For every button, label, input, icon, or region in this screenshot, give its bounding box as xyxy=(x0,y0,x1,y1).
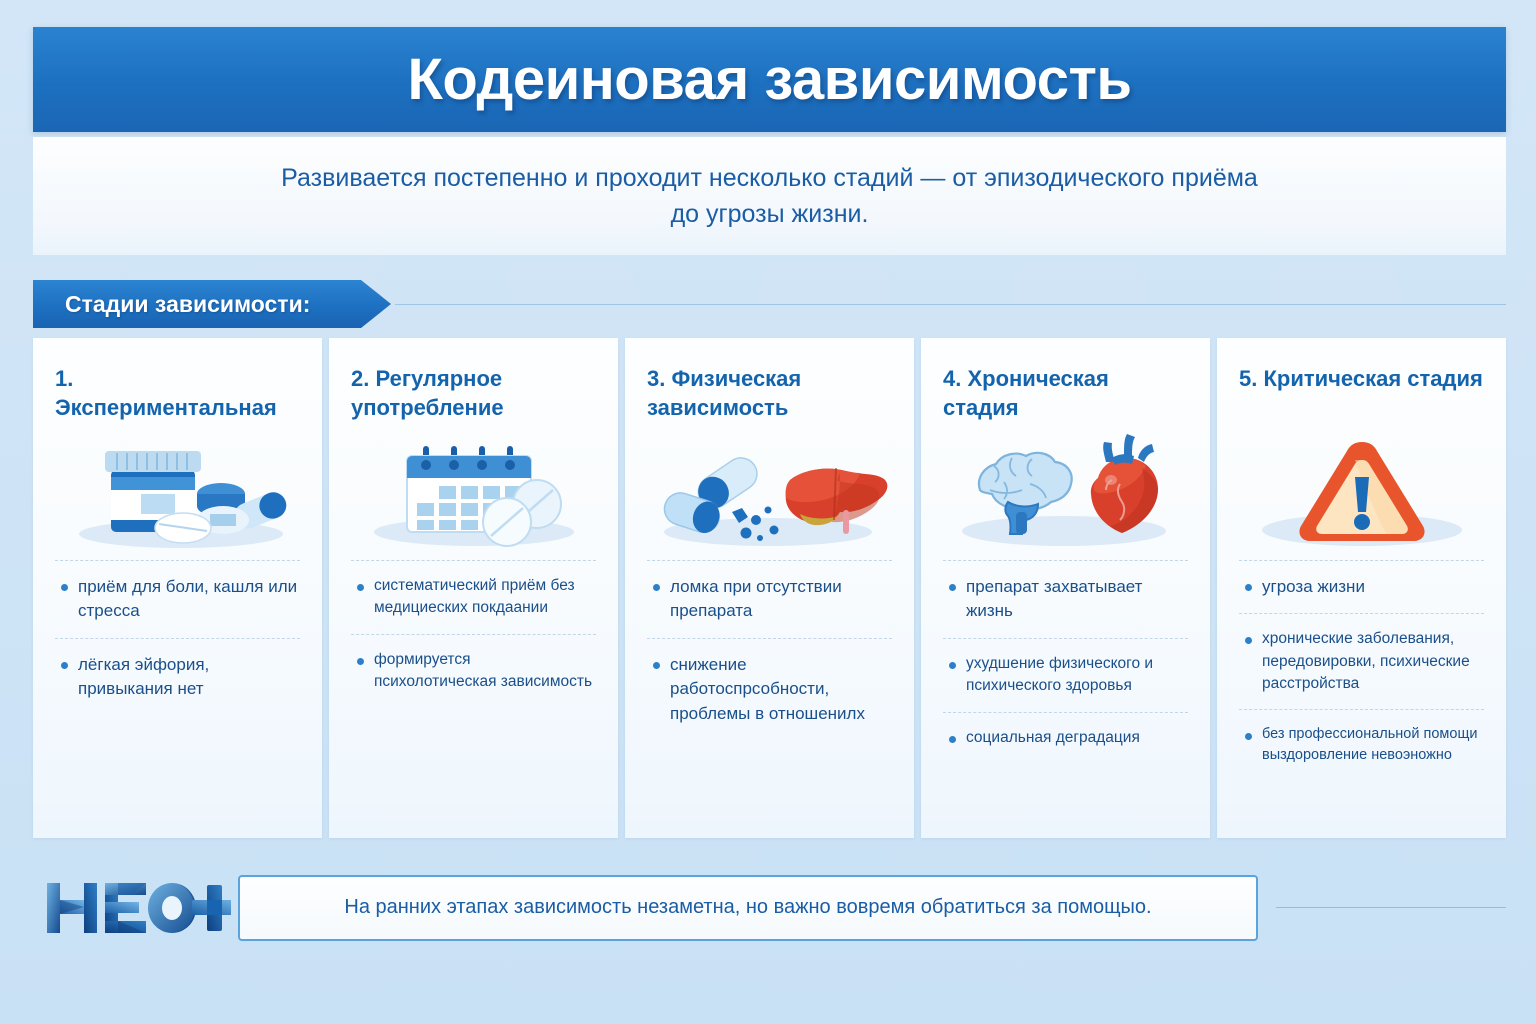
bullet-dot-icon xyxy=(653,662,660,669)
list-item: лёгкая эйфория, привыкания нет xyxy=(55,639,300,716)
section-chevron-banner: Стадии зависимости: xyxy=(33,280,391,328)
bullet-dot-icon xyxy=(1245,584,1252,591)
list-item: препарат захватывает жизнь xyxy=(943,561,1188,638)
header-banner: Кодеиновая зависимость xyxy=(33,27,1506,132)
stage-card-3[interactable]: 3. Физическая зависимость xyxy=(625,338,914,838)
bullet-dot-icon xyxy=(949,662,956,669)
page-title: Кодеиновая зависимость xyxy=(407,46,1131,113)
bullet-label: хронические заболевания, передовировки, … xyxy=(1262,628,1482,695)
bullet-label: формируется психолотическая зависимость xyxy=(374,649,594,694)
bullet-dot-icon xyxy=(61,662,68,669)
stage-card-5-bullets: угроза жизни хронические заболевания, пе… xyxy=(1239,560,1484,780)
footer-note-box: На ранних этапах зависимость незаметна, … xyxy=(238,875,1258,941)
stage-card-5-title: 5. Критическая стадия xyxy=(1239,364,1484,426)
bullet-dot-icon xyxy=(949,736,956,743)
subtitle-text: Развивается постепенно и проходит нескол… xyxy=(265,160,1275,233)
stages-card-grid: 1. Экспериментальная xyxy=(33,338,1506,838)
stage-card-1[interactable]: 1. Экспериментальная xyxy=(33,338,322,838)
bullet-label: без профессиональной помощи выздоровлени… xyxy=(1262,724,1482,766)
neo-plus-logo-icon xyxy=(41,873,231,943)
stage-card-2-bullets: систематический приём без медициеских по… xyxy=(351,560,596,707)
footer-divider-rule xyxy=(1276,907,1506,908)
stage-card-4[interactable]: 4. Хроническая стадия xyxy=(921,338,1210,838)
subtitle-banner: Развивается постепенно и проходит нескол… xyxy=(33,137,1506,255)
list-item: ухудшение физического и психического здо… xyxy=(943,639,1188,712)
stage-card-1-title: 1. Экспериментальная xyxy=(55,364,300,426)
list-item: угроза жизни xyxy=(1239,561,1484,613)
list-item: ломка при отсутствии препарата xyxy=(647,561,892,638)
bullet-label: препарат захватывает жизнь xyxy=(966,575,1186,624)
bullet-label: ломка при отсутствии препарата xyxy=(670,575,890,624)
bullet-label: ухудшение физического и психического здо… xyxy=(966,653,1186,698)
warning-triangle-icon xyxy=(1239,430,1484,552)
stage-card-3-title: 3. Физическая зависимость xyxy=(647,364,892,426)
list-item: приём для боли, кашля или стресса xyxy=(55,561,300,638)
footer: На ранних этапах зависимость незаметна, … xyxy=(33,855,1506,960)
stage-card-3-bullets: ломка при отсутствии препарата снижение … xyxy=(647,560,892,740)
list-item: систематический приём без медициеских по… xyxy=(351,561,596,634)
bullet-dot-icon xyxy=(357,584,364,591)
bullet-dot-icon xyxy=(1245,733,1252,740)
brand-logo xyxy=(33,873,238,943)
capsule-liver-icon xyxy=(647,430,892,552)
bullet-dot-icon xyxy=(1245,637,1252,644)
calendar-pills-icon xyxy=(351,430,596,552)
bullet-dot-icon xyxy=(61,584,68,591)
list-item: хронические заболевания, передовировки, … xyxy=(1239,614,1484,709)
bullet-label: лёгкая эйфория, привыкания нет xyxy=(78,653,298,702)
stage-card-2[interactable]: 2. Регулярное употребление xyxy=(329,338,618,838)
list-item: без профессиональной помощи выздоровлени… xyxy=(1239,710,1484,780)
bullet-label: систематический приём без медициеских по… xyxy=(374,575,594,620)
bullet-label: угроза жизни xyxy=(1262,575,1365,599)
bullet-dot-icon xyxy=(653,584,660,591)
list-item: снижение работоспрсобности, проблемы в о… xyxy=(647,639,892,740)
bullet-label: снижение работоспрсобности, проблемы в о… xyxy=(670,653,890,726)
list-item: социальная деградация xyxy=(943,713,1188,763)
section-label: Стадии зависимости: xyxy=(65,291,310,318)
stage-card-4-bullets: препарат захватывает жизнь ухудшение физ… xyxy=(943,560,1188,763)
stage-card-1-bullets: приём для боли, кашля или стресса лёгкая… xyxy=(55,560,300,716)
section-divider-rule xyxy=(395,304,1506,305)
pill-bottle-icon xyxy=(55,430,300,552)
stage-card-5[interactable]: 5. Критическая стадия угроза жизни xyxy=(1217,338,1506,838)
bullet-label: приём для боли, кашля или стресса xyxy=(78,575,298,624)
bullet-label: социальная деградация xyxy=(966,727,1140,749)
stage-card-4-title: 4. Хроническая стадия xyxy=(943,364,1188,426)
brain-heart-icon xyxy=(943,430,1188,552)
stage-card-2-title: 2. Регулярное употребление xyxy=(351,364,596,426)
bullet-dot-icon xyxy=(357,658,364,665)
footer-note-text: На ранних этапах зависимость незаметна, … xyxy=(344,896,1151,919)
bullet-dot-icon xyxy=(949,584,956,591)
list-item: формируется психолотическая зависимость xyxy=(351,635,596,708)
infographic-page: Кодеиновая зависимость Развивается посте… xyxy=(0,0,1536,1024)
section-header-row: Стадии зависимости: xyxy=(33,280,1506,328)
